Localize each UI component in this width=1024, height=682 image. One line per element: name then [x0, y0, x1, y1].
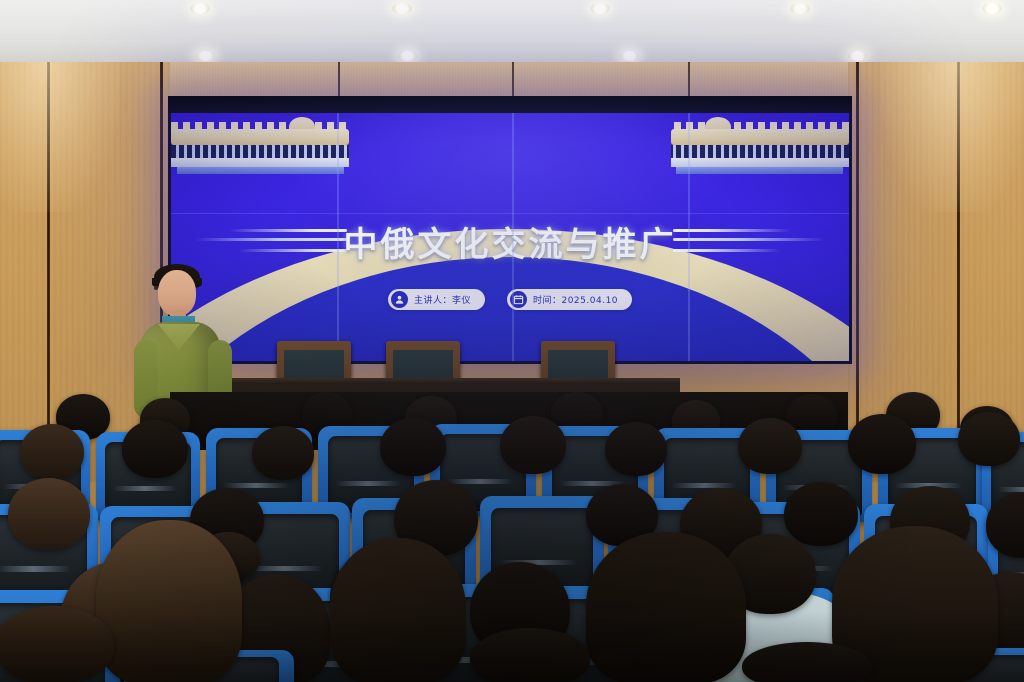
- ceiling-spotlight: [848, 51, 867, 61]
- ceiling-spotlight: [790, 3, 810, 14]
- ceiling-spotlight: [196, 51, 215, 61]
- panel-seam: [688, 113, 690, 361]
- audience-head: [122, 420, 188, 478]
- presentation-slide: 中俄文化交流与推广 主讲人：李仪: [171, 113, 849, 361]
- audience-head: [0, 606, 114, 682]
- audience-head: [958, 412, 1020, 466]
- ceiling-soffit: [0, 40, 1024, 62]
- video-wall: 中俄文化交流与推广 主讲人：李仪: [168, 96, 852, 364]
- audience-area: [0, 392, 1024, 682]
- slide-vignette: [171, 113, 849, 361]
- panel-seam: [337, 113, 339, 361]
- ceiling-spotlight: [398, 51, 417, 61]
- audience-head: [20, 424, 84, 480]
- head-table-lip: [222, 378, 680, 384]
- audience-head: [848, 414, 916, 474]
- audience-head: [252, 426, 314, 480]
- ceiling-spotlight: [590, 3, 610, 14]
- audience-head: [380, 418, 446, 476]
- wall-seam: [688, 62, 690, 98]
- audience-head: [605, 422, 667, 476]
- wall-above-screen: [170, 62, 848, 98]
- ceiling-spotlight: [982, 3, 1002, 14]
- audience-head: [742, 642, 872, 682]
- audience-head: [586, 532, 746, 682]
- wall-seam: [512, 62, 514, 98]
- ceiling-spotlight: [190, 3, 210, 14]
- video-wall-bezel: [168, 96, 852, 113]
- audience-head: [738, 418, 802, 474]
- audience-head: [500, 416, 566, 474]
- lecture-hall-photo: 中俄文化交流与推广 主讲人：李仪: [0, 0, 1024, 682]
- audience-head: [330, 538, 466, 682]
- audience-head: [96, 520, 242, 682]
- wall-seam: [338, 62, 340, 98]
- panel-seam: [171, 213, 849, 214]
- audience-head: [8, 478, 90, 550]
- lapel-mic-icon: [154, 286, 158, 290]
- audience-head: [784, 482, 858, 546]
- panel-seam: [512, 113, 514, 361]
- ceiling-spotlight: [620, 51, 639, 61]
- audience-head: [470, 628, 590, 682]
- ceiling-spotlight: [392, 3, 412, 14]
